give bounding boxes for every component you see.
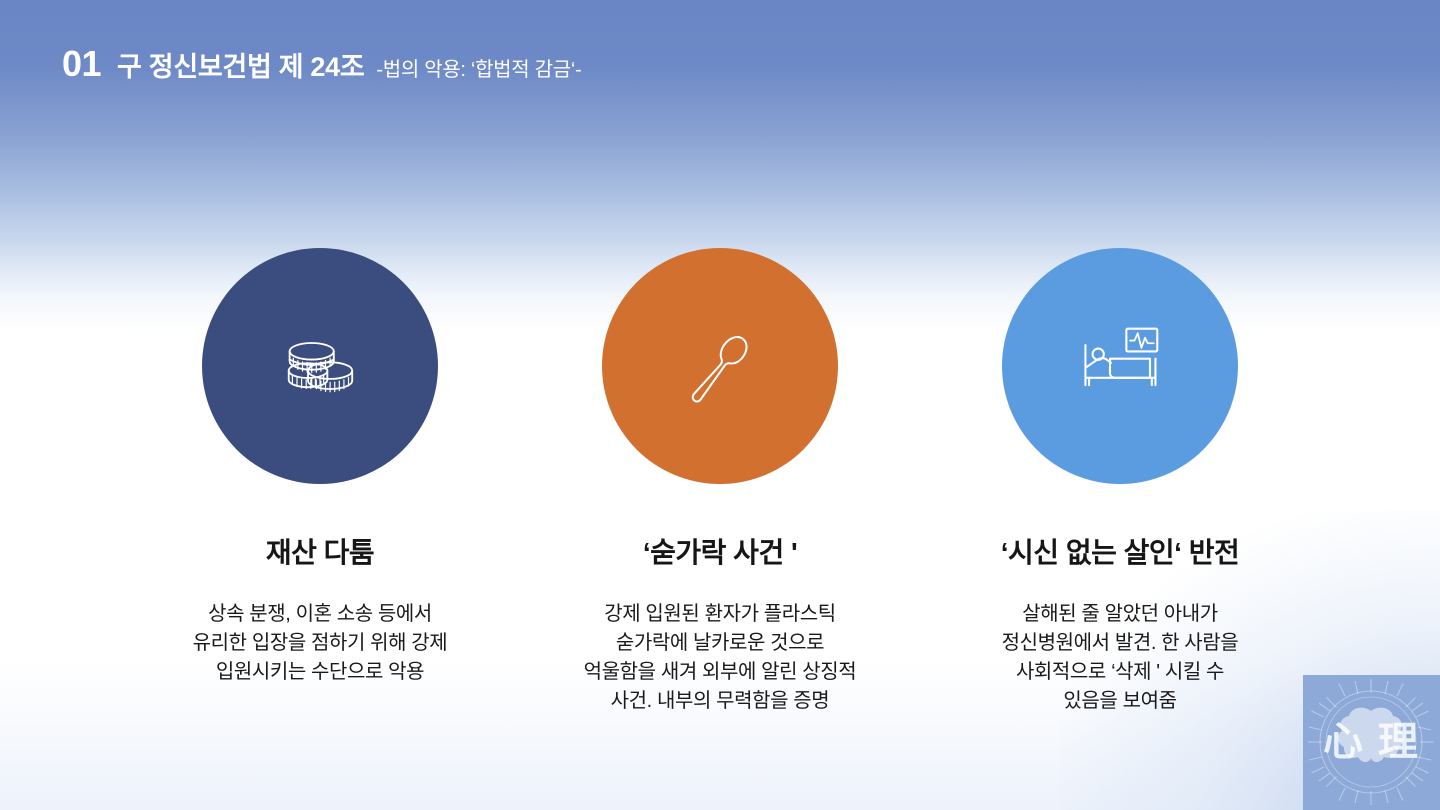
slide-header: 01 구 정신보건법 제 24조 -법의 악용: ‘합법적 감금‘- [62, 46, 581, 82]
body-line: 억울함을 새겨 외부에 알린 상징적 [584, 658, 857, 687]
column-body: 살해된 줄 알았던 아내가 정신병원에서 발견. 한 사람을 사회적으로 ‘삭제… [1002, 600, 1239, 716]
body-line: 유리한 입장을 점하기 위해 강제 [193, 629, 448, 658]
column-spoon-incident: ‘숟가락 사건 ' 강제 입원된 환자가 플라스틱 숟가락에 날카로운 것으로 … [520, 248, 920, 716]
icon-circle-property-dispute [202, 248, 438, 484]
icon-circle-murder-without-body [1002, 248, 1238, 484]
slide-root: 01 구 정신보건법 제 24조 -법의 악용: ‘합법적 감금‘- [0, 0, 1440, 810]
page-subtitle: -법의 악용: ‘합법적 감금‘- [376, 60, 581, 80]
page-title: 구 정신보건법 제 24조 [117, 54, 364, 81]
column-body: 상속 분쟁, 이혼 소송 등에서 유리한 입장을 점하기 위해 강제 입원시키는… [193, 600, 448, 687]
body-line: 숟가락에 날카로운 것으로 [584, 629, 857, 658]
body-line: 정신병원에서 발견. 한 사람을 [1002, 629, 1239, 658]
watermark-char-left: 心 [1323, 719, 1363, 765]
icon-circle-spoon-incident [602, 248, 838, 484]
spoon-icon [672, 318, 768, 414]
body-line: 있음을 보여줌 [1002, 687, 1239, 716]
column-murder-without-body: ‘시신 없는 살인‘ 반전 살해된 줄 알았던 아내가 정신병원에서 발견. 한… [920, 248, 1320, 716]
coins-icon [274, 320, 366, 412]
body-line: 입원시키는 수단으로 악용 [193, 658, 448, 687]
body-line: 강제 입원된 환자가 플라스틱 [584, 600, 857, 629]
column-heading: ‘숟가락 사건 ' [643, 536, 797, 570]
body-line: 사회적으로 ‘삭제 ' 시킬 수 [1002, 658, 1239, 687]
column-heading: ‘시신 없는 살인‘ 반전 [1001, 536, 1239, 570]
column-body: 강제 입원된 환자가 플라스틱 숟가락에 날카로운 것으로 억울함을 새겨 외부… [584, 600, 857, 716]
section-number: 01 [62, 46, 101, 82]
content-columns: 재산 다툼 상속 분쟁, 이혼 소송 등에서 유리한 입장을 점하기 위해 강제… [0, 248, 1440, 716]
watermark-logo: 心 理 [1303, 675, 1440, 810]
body-line: 상속 분쟁, 이혼 소송 등에서 [193, 600, 448, 629]
body-line: 사건. 내부의 무력함을 증명 [584, 687, 857, 716]
column-heading: 재산 다툼 [266, 536, 374, 570]
watermark-char-right: 理 [1378, 719, 1418, 765]
body-line: 살해된 줄 알았던 아내가 [1002, 600, 1239, 629]
column-property-dispute: 재산 다툼 상속 분쟁, 이혼 소송 등에서 유리한 입장을 점하기 위해 강제… [120, 248, 520, 716]
hospital-bed-icon [1070, 316, 1170, 416]
